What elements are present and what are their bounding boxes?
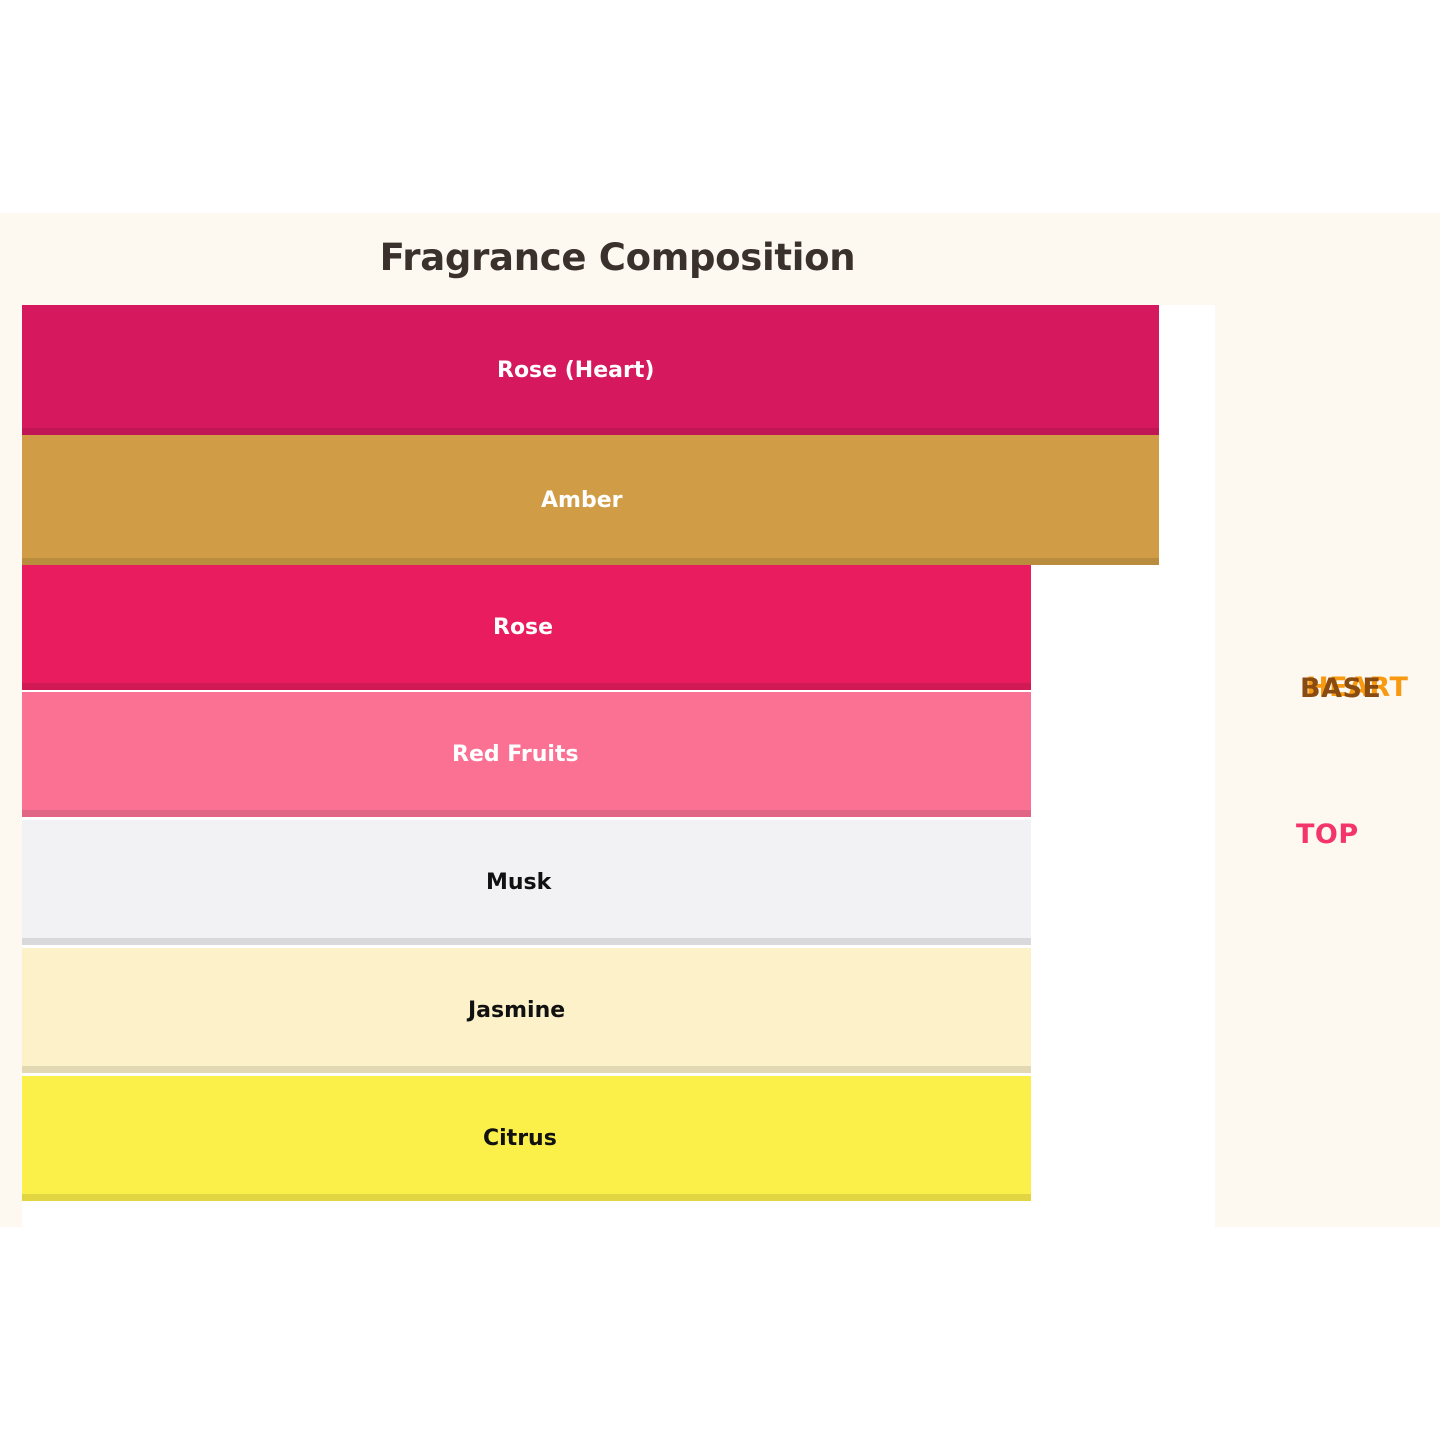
bar-shadow — [22, 428, 1159, 435]
bar-label: Rose (Heart) — [497, 358, 654, 383]
bar-label: Musk — [486, 870, 551, 895]
figure-canvas: Fragrance Composition Rose (Heart) Amber… — [0, 213, 1440, 1227]
bar-citrus[interactable]: Citrus — [22, 1076, 1031, 1201]
bar-label: Red Fruits — [452, 742, 579, 767]
bar-label: Citrus — [483, 1126, 557, 1151]
bar-shadow — [22, 683, 1031, 690]
bar-red-fruits[interactable]: Red Fruits — [22, 692, 1031, 817]
bar-shadow — [22, 1066, 1031, 1073]
bar-shadow — [22, 1194, 1031, 1201]
bar-musk[interactable]: Musk — [22, 820, 1031, 945]
annotation-base: BASE — [1300, 673, 1381, 704]
plot-area: Rose (Heart) Amber Rose Red Fruits Musk — [22, 305, 1215, 1227]
bar-label: Rose — [493, 615, 553, 640]
annotation-top: TOP — [1296, 819, 1359, 850]
page-title: Fragrance Composition — [0, 236, 1235, 279]
bar-jasmine[interactable]: Jasmine — [22, 948, 1031, 1073]
bar-rose-heart[interactable]: Rose (Heart) — [22, 305, 1159, 435]
bar-label: Jasmine — [468, 998, 565, 1023]
bar-rose[interactable]: Rose — [22, 565, 1031, 690]
bar-shadow — [22, 558, 1159, 565]
bar-shadow — [22, 810, 1031, 817]
bar-shadow — [22, 938, 1031, 945]
bar-label: Amber — [541, 488, 622, 513]
bar-amber[interactable]: Amber — [22, 435, 1159, 565]
